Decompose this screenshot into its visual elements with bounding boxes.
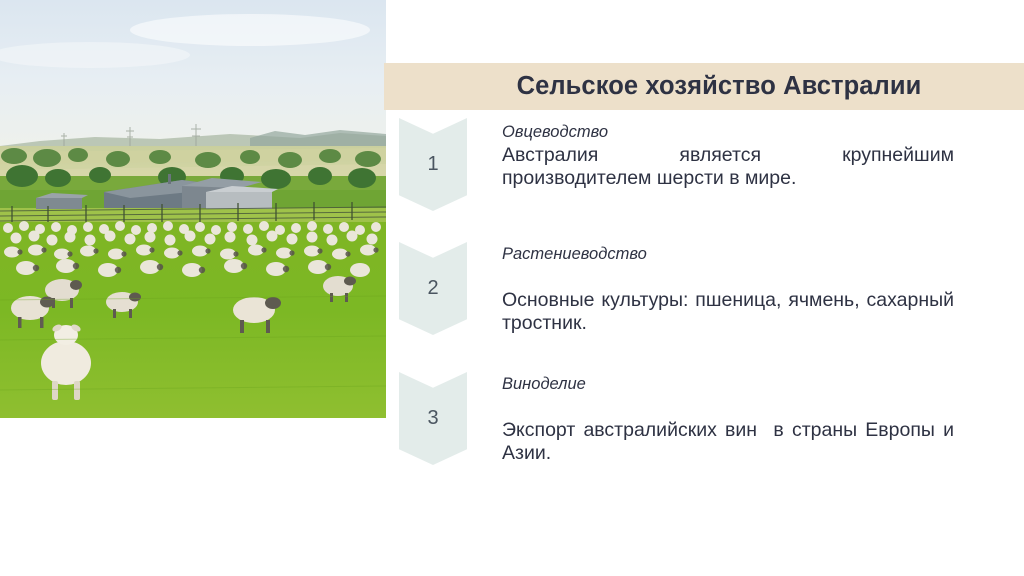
photo-illustration bbox=[0, 0, 386, 418]
item-number: 2 bbox=[399, 242, 467, 335]
list-item[interactable]: 3 Виноделие Экспорт австралийских вин в … bbox=[384, 372, 1024, 482]
list-item[interactable]: 2 Растениеводство Основные культуры: пше… bbox=[384, 242, 1024, 352]
item-body: Экспорт австралийских вин в страны Европ… bbox=[502, 419, 954, 466]
page-title: Сельское хозяйство Австралии bbox=[384, 63, 1024, 110]
item-body: Австралия является крупнейшим производит… bbox=[502, 144, 954, 191]
item-body: Основные культуры: пшеница, ячмень, саха… bbox=[502, 289, 954, 336]
item-heading: Овцеводство bbox=[502, 122, 954, 143]
list-item[interactable]: 1 Овцеводство Австралия является крупней… bbox=[384, 118, 1024, 228]
sheep-pasture-photo bbox=[0, 0, 386, 418]
item-heading: Растениеводство bbox=[502, 244, 954, 265]
item-text-block: Виноделие Экспорт австралийских вин в ст… bbox=[502, 374, 954, 466]
item-text-block: Растениеводство Основные культуры: пшени… bbox=[502, 244, 954, 336]
item-number: 3 bbox=[399, 372, 467, 465]
item-number: 1 bbox=[399, 118, 467, 211]
item-heading: Виноделие bbox=[502, 374, 954, 395]
content-list: 1 Овцеводство Австралия является крупней… bbox=[384, 110, 1024, 490]
slide-root: Сельское хозяйство Австралии 1 Овцеводст… bbox=[0, 0, 1024, 576]
item-text-block: Овцеводство Австралия является крупнейши… bbox=[502, 122, 954, 191]
